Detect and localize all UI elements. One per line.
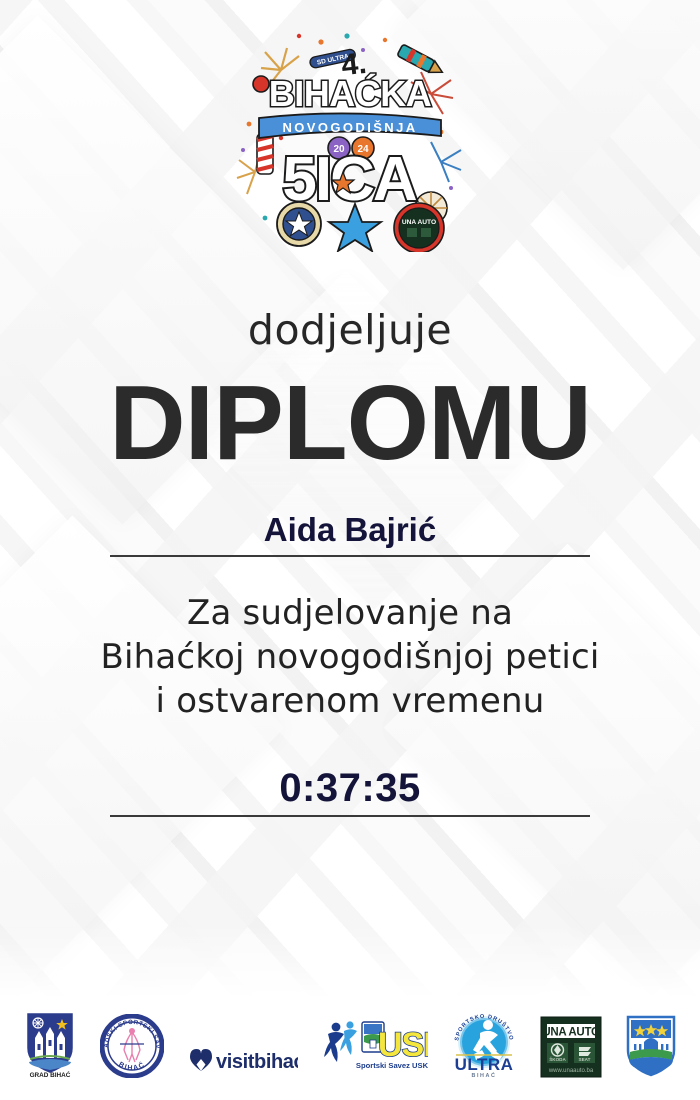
event-logo-banner-text: NOVOGODIŠNJA: [283, 120, 418, 135]
sponsor-brand-1: ŠKODA: [549, 1055, 566, 1062]
finish-time-value: 0:37:35: [110, 766, 590, 815]
sponsor-wordmark: visitbihac: [216, 1051, 298, 1073]
sponsor-logo-ultra-bihac: SPORTSKO DRUŠTVO ULTRA BIHAĆ: [450, 1006, 518, 1078]
sponsor-wordmark: ULTRA: [455, 1055, 514, 1074]
sponsor-caption: BIHAĆ: [471, 1071, 496, 1078]
sponsor-logo-usk-canton-crest: [624, 1006, 678, 1078]
sponsor-wordmark: UNA AUTO: [542, 1027, 600, 1039]
reason-line-2: Bihaćkoj novogodišnjoj petici: [20, 635, 680, 679]
reason-text: Za sudjelovanje na Bihaćkoj novogodišnjo…: [20, 591, 680, 724]
reason-line-1: Za sudjelovanje na: [20, 591, 680, 635]
event-logo-sponsor-text: UNA AUTO: [402, 219, 436, 226]
event-logo: SD ULTRA 4. BIHAĆKA NOVOGODIŠNJA 20: [235, 22, 465, 252]
diploma-certificate: SD ULTRA 4. BIHAĆKA NOVOGODIŠNJA 20: [0, 0, 700, 1100]
usk-runners-icon: [324, 1021, 357, 1062]
recipient-name: Aida Bajrić: [110, 511, 590, 555]
sponsor-url: www.unaauto.ba: [548, 1068, 594, 1074]
sponsor-caption: GRAD BIHAĆ: [30, 1070, 71, 1078]
event-logo-medal: [277, 202, 321, 246]
reason-line-3: i ostvarenom vremenu: [20, 679, 680, 723]
sponsor-caption: Sportski Savez USK: [356, 1061, 428, 1070]
time-underline: [110, 815, 590, 817]
recipient-field: Aida Bajrić: [110, 511, 590, 557]
time-field: 0:37:35: [110, 766, 590, 817]
sponsor-logo-una-auto: UNA AUTO ŠKODA SEAT www.unaauto.ba: [540, 1006, 602, 1078]
sponsor-logo-visitbihac: visitbihac: [186, 1006, 298, 1078]
recipient-underline: [110, 555, 590, 557]
page-title: DIPLOMU: [109, 369, 591, 477]
sponsor-wordmark: USK: [378, 1026, 428, 1064]
sponsor-logo-usk: USK Sportski Savez USK: [320, 1006, 428, 1078]
sponsor-logo-gradski-sportski-savez: GRADSKI SPORTSKI SAVEZ BIHAĆ: [100, 1006, 164, 1078]
sponsor-brand-2: SEAT: [579, 1057, 591, 1062]
awards-line: dodjeljuje: [248, 310, 452, 351]
sponsor-logo-grad-bihac: GRAD BIHAĆ: [22, 1006, 78, 1078]
sponsor-logo-bar: GRAD BIHAĆ GRADSKI SPORTSKI SAVEZ: [0, 1006, 700, 1078]
event-logo-banner: NOVOGODIŠNJA: [259, 113, 441, 138]
event-logo-line1: BIHAĆKA: [269, 72, 432, 114]
event-logo-sponsor-badge: UNA AUTO: [394, 203, 444, 252]
heart-pin-icon: [190, 1049, 212, 1071]
